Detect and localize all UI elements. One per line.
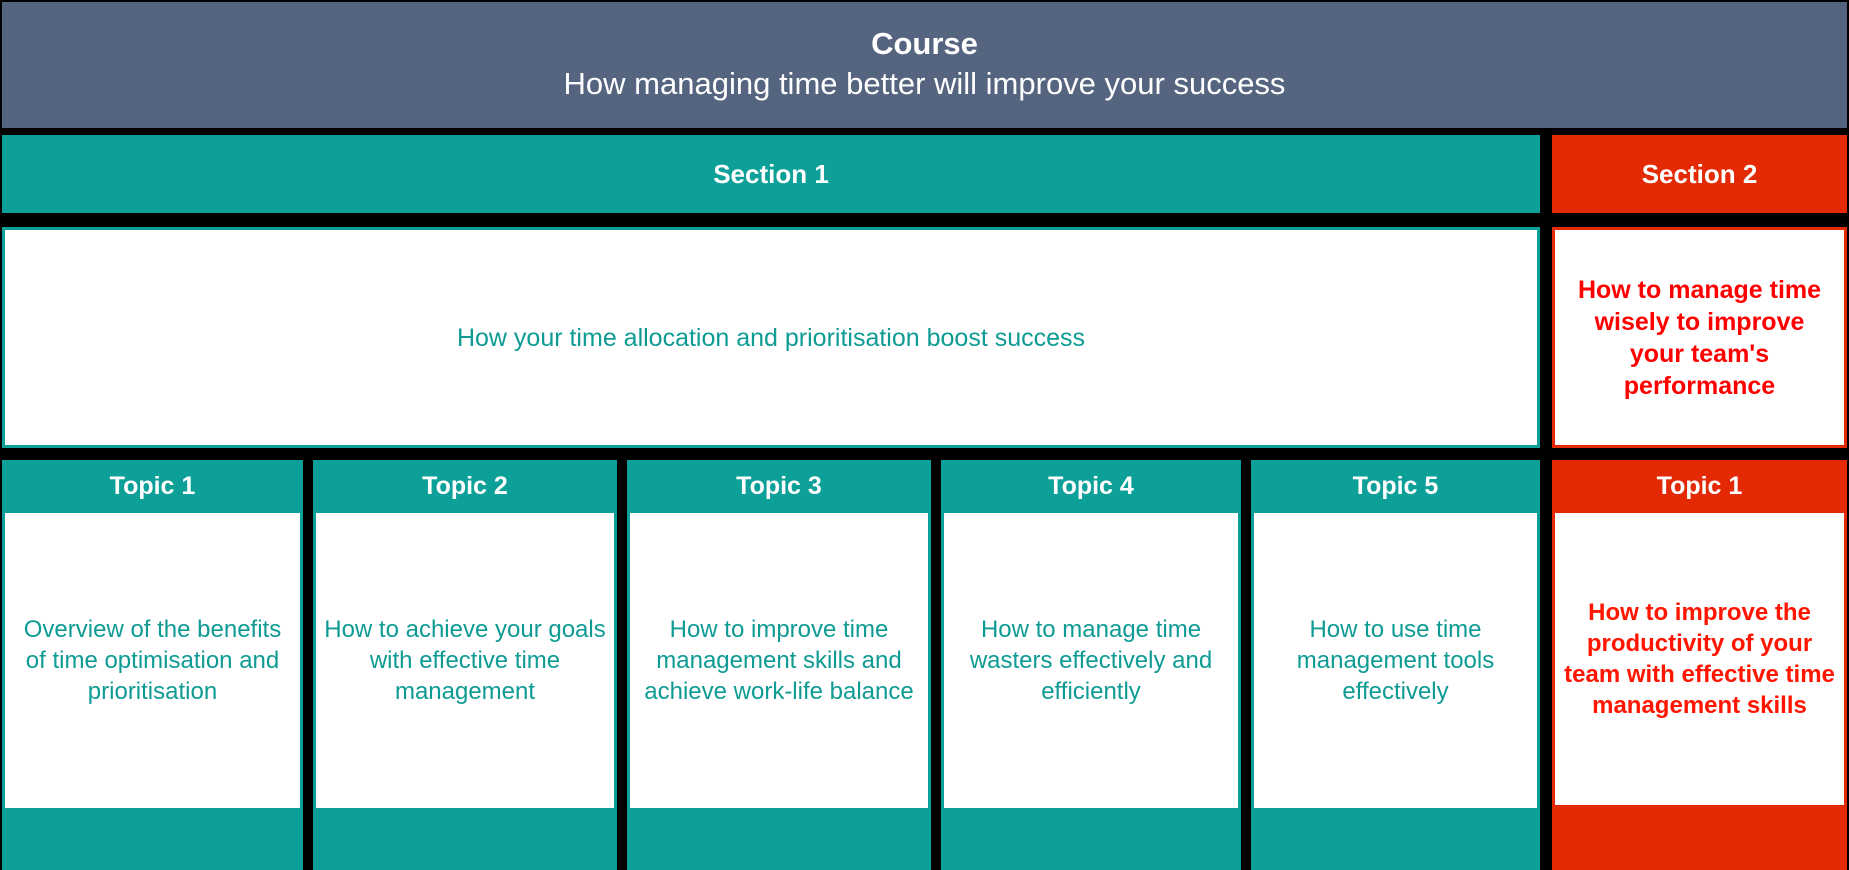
topic-label-s1-t3: Topic 3 (736, 472, 822, 501)
topic-card-s1-t3[interactable]: Topic 3 How to improve time management s… (627, 460, 931, 870)
topic-header-s1-t1: Topic 1 (2, 460, 303, 513)
section-1-description-text: How your time allocation and prioritisat… (457, 322, 1085, 354)
topic-body-s1-t2: How to achieve your goals with effective… (313, 513, 617, 808)
topic-label-s1-t2: Topic 2 (422, 472, 508, 501)
course-title: How managing time better will improve yo… (564, 64, 1286, 104)
topic-header-s2-t1: Topic 1 (1552, 460, 1847, 513)
topic-card-s1-t4[interactable]: Topic 4 How to manage time wasters effec… (941, 460, 1241, 870)
section-2-description-text: How to manage time wisely to improve you… (1565, 274, 1834, 402)
topic-footer-s1-t2 (313, 808, 617, 870)
section-2-label: Section 2 (1642, 159, 1758, 190)
topic-body-s1-t4: How to manage time wasters effectively a… (941, 513, 1241, 808)
topic-footer-s2-t1 (1552, 805, 1847, 870)
topic-body-s1-t1: Overview of the benefits of time optimis… (2, 513, 303, 808)
topic-text-s1-t3: How to improve time management skills an… (638, 614, 920, 708)
section-header-1[interactable]: Section 1 (2, 135, 1540, 213)
topic-body-s1-t5: How to use time management tools effecti… (1251, 513, 1540, 808)
topic-card-s1-t2[interactable]: Topic 2 How to achieve your goals with e… (313, 460, 617, 870)
topic-text-s2-t1: How to improve the productivity of your … (1563, 597, 1836, 722)
topic-footer-s1-t4 (941, 808, 1241, 870)
section-1-label: Section 1 (713, 159, 829, 190)
topic-text-s1-t2: How to achieve your goals with effective… (324, 614, 606, 708)
topic-body-s2-t1: How to improve the productivity of your … (1552, 513, 1847, 805)
topic-text-s1-t1: Overview of the benefits of time optimis… (13, 614, 292, 708)
topic-header-s1-t5: Topic 5 (1251, 460, 1540, 513)
course-header: Course How managing time better will imp… (2, 2, 1847, 128)
topic-footer-s1-t1 (2, 808, 303, 870)
topic-header-s1-t4: Topic 4 (941, 460, 1241, 513)
topic-label-s1-t1: Topic 1 (110, 472, 196, 501)
topic-text-s1-t5: How to use time management tools effecti… (1262, 614, 1529, 708)
topic-label-s1-t5: Topic 5 (1353, 472, 1439, 501)
topic-header-s1-t3: Topic 3 (627, 460, 931, 513)
topic-footer-s1-t3 (627, 808, 931, 870)
course-structure-map: Course How managing time better will imp… (0, 0, 1849, 870)
topic-text-s1-t4: How to manage time wasters effectively a… (952, 614, 1230, 708)
topic-card-s2-t1[interactable]: Topic 1 How to improve the productivity … (1552, 460, 1847, 870)
section-2-description-card[interactable]: How to manage time wisely to improve you… (1552, 227, 1847, 448)
topic-label-s1-t4: Topic 4 (1048, 472, 1134, 501)
section-1-description-card[interactable]: How your time allocation and prioritisat… (2, 227, 1540, 448)
topic-footer-s1-t5 (1251, 808, 1540, 870)
section-header-2[interactable]: Section 2 (1552, 135, 1847, 213)
topic-body-s1-t3: How to improve time management skills an… (627, 513, 931, 808)
topic-label-s2-t1: Topic 1 (1657, 472, 1743, 501)
course-label: Course (871, 25, 978, 64)
topic-card-s1-t5[interactable]: Topic 5 How to use time management tools… (1251, 460, 1540, 870)
topic-header-s1-t2: Topic 2 (313, 460, 617, 513)
topic-card-s1-t1[interactable]: Topic 1 Overview of the benefits of time… (2, 460, 303, 870)
